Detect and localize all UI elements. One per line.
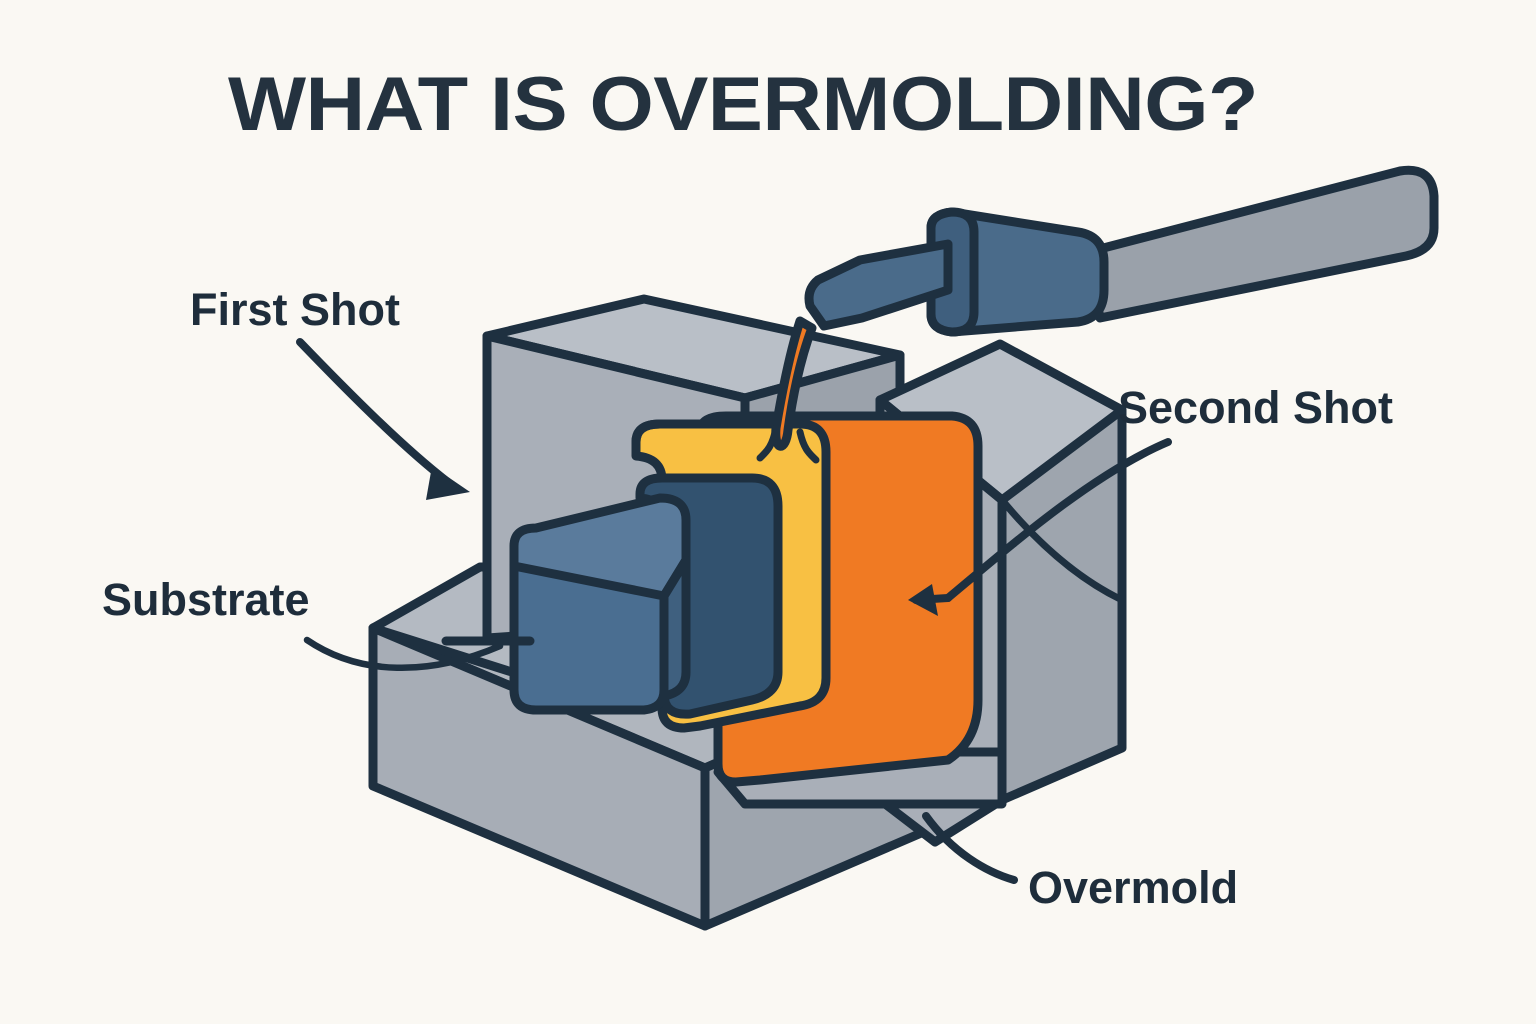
label-substrate: Substrate [102,574,310,625]
leader-first-shot [300,342,470,500]
label-overmold: Overmold [1028,862,1238,913]
page-title: WHAT IS OVERMOLDING? [228,62,1258,147]
label-first-shot: First Shot [190,284,400,335]
injection-nozzle [809,170,1434,332]
overmolding-illustration: WHAT IS OVERMOLDING? [0,0,1536,1024]
label-second-shot: Second Shot [1118,382,1393,433]
diagram-canvas: WHAT IS OVERMOLDING? [0,0,1536,1024]
